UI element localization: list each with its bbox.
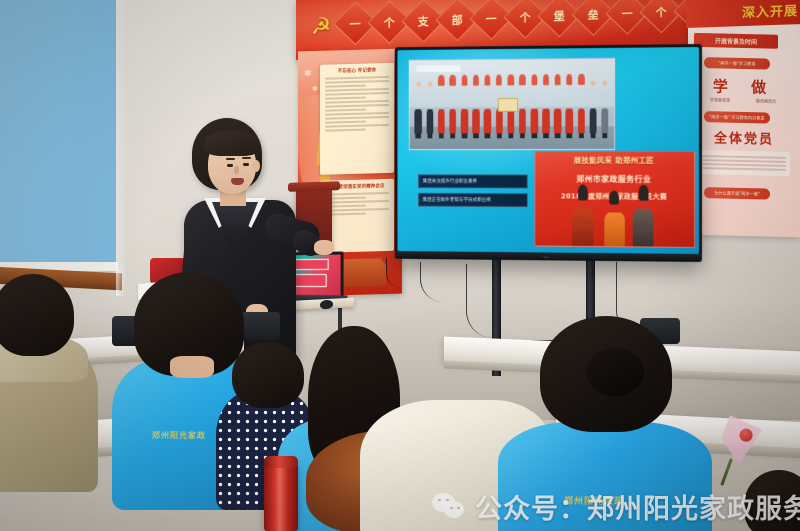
right-poster-note	[698, 150, 790, 176]
photo-person	[577, 81, 586, 133]
right-poster-sub-left: 学党章党规	[710, 97, 730, 103]
wechat-icon	[432, 493, 466, 521]
flower-stem	[720, 458, 732, 485]
slide-caption: 集团正在助外老帮与学员式职业修	[418, 193, 528, 207]
right-poster-section-text: 开展背景及时间	[715, 36, 757, 46]
dove-icon: ✻	[312, 85, 318, 93]
attendee-neck	[170, 356, 214, 378]
photo-person	[472, 82, 481, 134]
presentation-slide: 展技能风采 助郑州工匠 郑州市家政服务行业 2018年度郑州市家政服务员大赛	[397, 47, 699, 254]
slogan-char: 堡	[554, 7, 565, 23]
dove-icon: ✻	[304, 69, 312, 79]
photo-person	[518, 81, 527, 133]
wall-corner-highlight	[116, 0, 126, 296]
stage-person	[633, 187, 654, 246]
right-poster-tag-1: "两学一做"学习教育	[704, 57, 770, 69]
slogan-char: 个	[520, 8, 531, 24]
slogan-char: 一	[350, 15, 361, 31]
photo-person	[426, 82, 434, 133]
vest-logo-text: 郑州阳光家政	[152, 430, 206, 441]
window-blind	[0, 0, 116, 266]
wall-display[interactable]: 展技能风采 助郑州工匠 郑州市家政服务行业 2018年度郑州市家政服务员大赛	[395, 44, 702, 262]
power-led-icon	[543, 256, 549, 258]
photo-person	[589, 81, 598, 133]
tag-3-text: 为什么要开展"两学一做"	[714, 190, 760, 197]
right-poster-header-banner: 深入开展	[686, 0, 800, 28]
attendee-hair	[0, 274, 74, 356]
poster-text-card: 不忘初心 牢记使命	[320, 63, 394, 175]
photo-person	[542, 81, 551, 133]
photo-person	[553, 81, 562, 133]
slogan-char: 一	[622, 5, 633, 21]
display-bezel: 展技能风采 助郑州工匠 郑州市家政服务行业 2018年度郑州市家政服务员大赛	[397, 47, 699, 254]
thermos-cap	[264, 456, 298, 468]
slogan-char: 个	[656, 3, 667, 19]
presenter-nose	[234, 166, 239, 174]
right-poster-section-label: 开展背景及时间	[694, 33, 778, 49]
slogan-char: 支	[418, 12, 429, 28]
red-thermos-bottle	[264, 462, 298, 531]
slide-award-photo: 展技能风采 助郑州工匠 郑州市家政服务行业 2018年度郑州市家政服务员大赛	[534, 151, 695, 248]
presenter-brow	[226, 158, 235, 160]
presenter-eye	[243, 163, 249, 166]
photo-watermark	[416, 65, 460, 72]
photo-person	[483, 82, 492, 134]
right-poster-tag-2: "两学一做" 学习教育的对象是	[704, 111, 770, 123]
presenter-right-hand	[314, 240, 334, 255]
watermark-text: 公众号：郑州阳光家政服务公司	[475, 487, 800, 526]
slogan-char: 垒	[588, 6, 599, 22]
wechat-bubble	[444, 501, 464, 518]
slide-group-photo	[409, 58, 615, 150]
presenter-ear	[252, 160, 260, 172]
right-poster-big-text-2: 全体党员	[688, 127, 800, 149]
slogan-char: 一	[486, 10, 497, 26]
attendee-hair-bun	[586, 348, 644, 396]
hammer-sickle-icon: ☭	[308, 14, 334, 41]
presenter-eye	[227, 164, 233, 167]
stage-banner-line-2: 郑州市家政服务行业	[538, 174, 690, 185]
photo-person	[460, 82, 469, 134]
photo-person	[414, 82, 422, 133]
tag-2-text: "两学一做" 学习教育的对象是	[709, 114, 764, 121]
slide-caption-list: 集团关注提升行业职业素养 集团正在助外老帮与学员式职业修	[418, 175, 528, 213]
right-poster-sub-right: 做合格党员	[756, 98, 776, 104]
certificate-plaque	[498, 98, 518, 113]
presenter-mouth	[231, 178, 244, 185]
right-wall-poster: 开展背景及时间 "两学一做"学习教育 学 做 学党章党规 做合格党员 "两学一做…	[688, 5, 800, 238]
photo-person	[449, 82, 457, 134]
photo-person	[437, 82, 445, 134]
slogan-char: 部	[452, 11, 463, 27]
right-poster-tag-3: 为什么要开展"两学一做"	[704, 187, 770, 199]
tag-1-text: "两学一做"学习教育	[718, 60, 755, 67]
stage-banner-line-1: 展技能风采 助郑州工匠	[538, 155, 690, 166]
watermark: 公众号：郑州阳光家政服务公司	[432, 487, 800, 526]
stage-person	[573, 187, 594, 245]
list-item	[0, 282, 100, 492]
presenter-brow	[242, 157, 251, 159]
photo-person	[530, 81, 539, 133]
left-poster-title: 不忘初心 牢记使命	[324, 67, 390, 75]
photo-person	[601, 81, 610, 133]
stage-person	[604, 193, 625, 246]
slogan-char: 个	[384, 14, 395, 30]
right-poster-header-text: 深入开展	[742, 0, 798, 21]
presenter-hair-fringe	[204, 130, 260, 156]
slide-caption: 集团关注提升行业职业素养	[418, 175, 528, 189]
right-poster-big-text-1: 学 做	[688, 75, 800, 99]
photo-scene: ☭ 一个支部一个堡垒一个党员一面旗帜 ✻ ✻ 不忘初心 牢记使命 学习贯彻落实党…	[0, 0, 800, 531]
photo-person	[565, 81, 574, 133]
